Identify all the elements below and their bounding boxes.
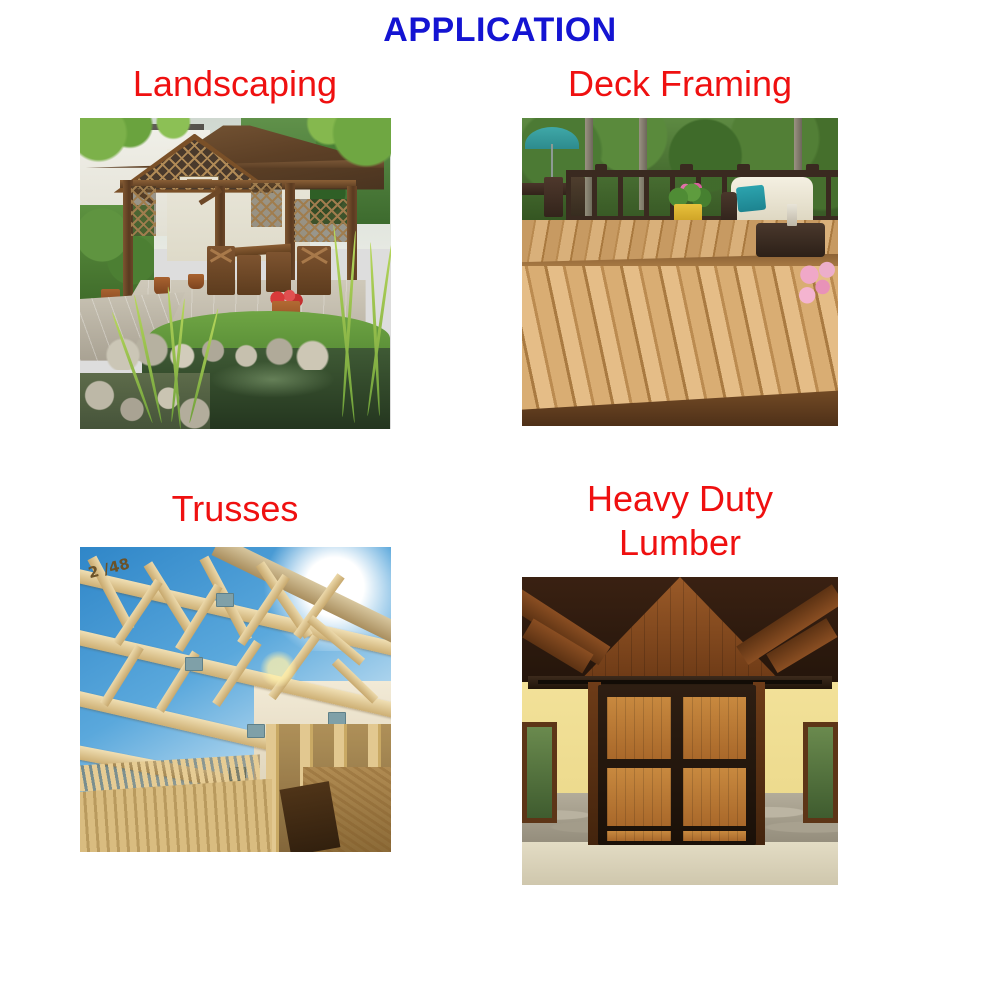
plant-pot-3	[188, 274, 204, 290]
heavy-duty-lumber-photo	[522, 577, 838, 885]
side-lattice-right	[251, 183, 282, 227]
concrete-floor	[522, 842, 838, 885]
door-panel-bottom-left	[607, 768, 670, 827]
deck-framing-photo	[522, 118, 838, 426]
card-label-landscaping: Landscaping	[10, 62, 460, 106]
tabletop-bottle	[787, 204, 796, 226]
pond-rocks	[104, 333, 340, 370]
railing-post-cap	[806, 164, 819, 176]
side-lattice-left	[131, 186, 156, 236]
patio-chair-1	[207, 246, 235, 296]
side-window-left	[522, 722, 557, 824]
door-panel-top-right	[683, 697, 746, 759]
door-panel-footer-right	[683, 831, 746, 841]
card-label-deck-framing: Deck Framing	[455, 62, 905, 106]
card-label-trusses: Trusses	[10, 487, 460, 531]
patio-chair-4	[297, 246, 331, 296]
gusset-plate	[185, 657, 203, 671]
gusset-plate	[247, 724, 265, 738]
application-grid: Landscaping	[0, 62, 1000, 992]
landscaping-photo	[80, 118, 391, 429]
door-panel-bottom-right	[683, 768, 746, 827]
side-lattice-far-right	[294, 199, 347, 243]
application-card-landscaping[interactable]: Landscaping	[10, 62, 460, 429]
gusset-plate	[216, 593, 234, 607]
application-card-heavy-duty-lumber[interactable]: Heavy Duty Lumber	[455, 477, 905, 885]
sliding-door-track	[538, 680, 822, 684]
application-card-trusses[interactable]: Trusses	[10, 487, 460, 852]
door-panel-top-left	[607, 697, 670, 759]
dining-chair-1	[544, 177, 563, 217]
patio-chair-2	[237, 255, 262, 295]
railing-post-cap	[680, 164, 693, 176]
coffee-table	[756, 223, 826, 257]
teal-pillow	[736, 184, 767, 211]
trusses-photo: 2 /48	[80, 547, 391, 852]
side-window-right	[803, 722, 838, 824]
application-card-deck-framing[interactable]: Deck Framing	[455, 62, 905, 426]
tree-canopy	[80, 118, 391, 168]
page-title: APPLICATION	[0, 8, 1000, 52]
door-panel-footer-left	[607, 831, 670, 841]
card-label-heavy-duty-lumber: Heavy Duty Lumber	[455, 477, 905, 565]
patio-chair-3	[266, 252, 291, 292]
railing-post-cap	[737, 164, 750, 176]
pink-flowers	[794, 260, 838, 309]
railing-post-cap	[595, 164, 608, 176]
